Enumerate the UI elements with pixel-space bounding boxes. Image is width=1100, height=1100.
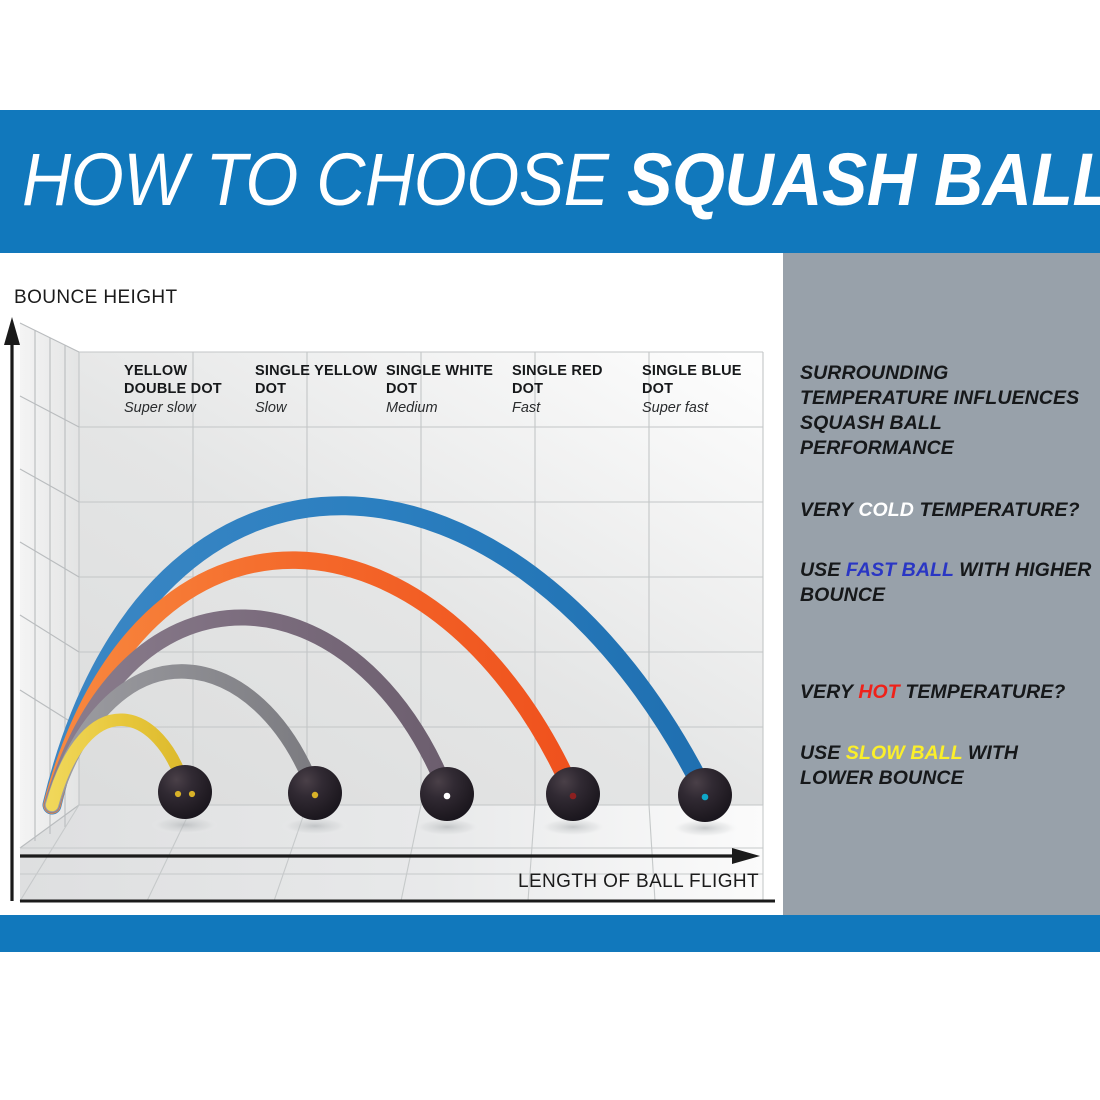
legend-title: SINGLE YELLOW DOT <box>255 363 380 398</box>
sidebar: SURROUNDING TEMPERATURE INFLUENCES SQUAS… <box>783 253 1100 915</box>
legend-title: SINGLE WHITE DOT <box>386 363 511 398</box>
y-axis-label: BOUNCE HEIGHT <box>14 287 178 309</box>
sidebar-text-hot-advice: USE SLOW BALL WITH LOWER BOUNCE <box>800 741 1092 791</box>
infographic-page: HOW TO CHOOSE SQUASH BALLS <box>0 0 1100 1100</box>
y-axis-arrow <box>4 317 20 901</box>
bounce-chart <box>0 253 783 915</box>
chart-panel: YELLOW DOUBLE DOT Super slow SINGLE YELL… <box>0 253 783 915</box>
legend-title: SINGLE RED DOT <box>512 363 637 398</box>
page-title-light: HOW TO CHOOSE <box>22 138 627 221</box>
sidebar-text-run: TEMPERATURE? <box>900 681 1066 703</box>
legend-speed: Medium <box>386 400 511 417</box>
legend-speed: Fast <box>512 400 637 417</box>
highlight-hot: HOT <box>858 681 899 703</box>
legend-item-single-blue-dot: SINGLE BLUE DOT Super fast <box>642 363 767 417</box>
sidebar-text-cold-advice: USE FAST BALL WITH HIGHER BOUNCE <box>800 558 1092 608</box>
page-title-bold: SQUASH BALLS <box>627 138 1100 221</box>
sidebar-text-run: VERY <box>800 499 858 521</box>
legend-title: YELLOW DOUBLE DOT <box>124 363 249 398</box>
legend-speed: Super slow <box>124 400 249 417</box>
title-banner: HOW TO CHOOSE SQUASH BALLS <box>0 110 1100 253</box>
legend-speed: Super fast <box>642 400 767 417</box>
sidebar-text-run: USE <box>800 742 846 764</box>
page-title: HOW TO CHOOSE SQUASH BALLS <box>22 138 1100 222</box>
legend-item-single-white-dot: SINGLE WHITE DOT Medium <box>386 363 511 417</box>
sidebar-text-run: SURROUNDING TEMPERATURE INFLUENCES SQUAS… <box>800 362 1079 459</box>
sidebar-text-run: VERY <box>800 681 858 703</box>
highlight-fast: FAST BALL <box>846 559 954 581</box>
legend-item-single-yellow-dot: SINGLE YELLOW DOT Slow <box>255 363 380 417</box>
bottom-bar <box>0 915 1100 952</box>
sidebar-text-intro: SURROUNDING TEMPERATURE INFLUENCES SQUAS… <box>800 361 1092 461</box>
legend-item-yellow-double-dot: YELLOW DOUBLE DOT Super slow <box>124 363 249 417</box>
legend-title: SINGLE BLUE DOT <box>642 363 767 398</box>
sidebar-text-cold-question: VERY COLD TEMPERATURE? <box>800 498 1092 523</box>
highlight-slow: SLOW BALL <box>846 742 962 764</box>
sidebar-text-run: TEMPERATURE? <box>914 499 1080 521</box>
legend-speed: Slow <box>255 400 380 417</box>
legend-item-single-red-dot: SINGLE RED DOT Fast <box>512 363 637 417</box>
sidebar-text-run: USE <box>800 559 846 581</box>
sidebar-text-hot-question: VERY HOT TEMPERATURE? <box>800 680 1092 705</box>
x-axis-label: LENGTH OF BALL FLIGHT <box>518 871 759 893</box>
highlight-cold: COLD <box>858 499 914 521</box>
